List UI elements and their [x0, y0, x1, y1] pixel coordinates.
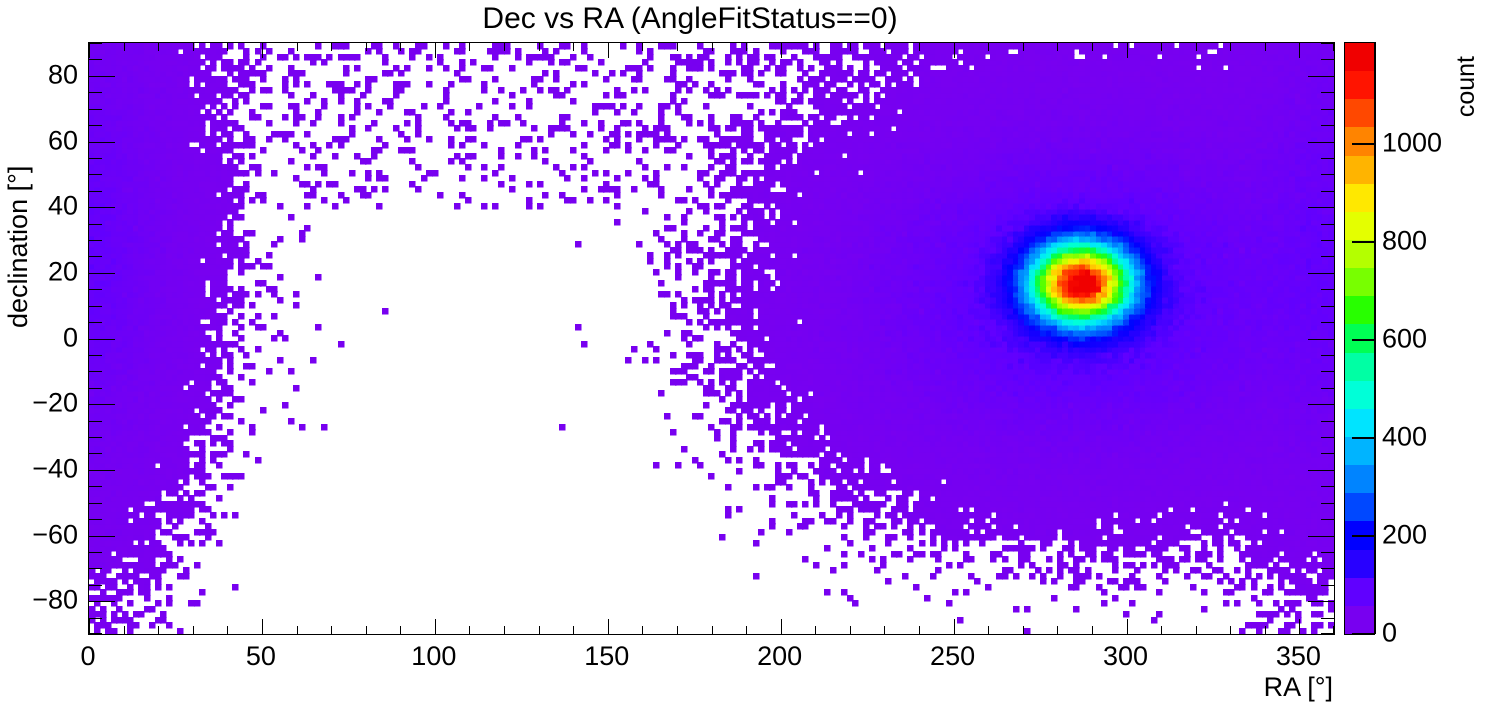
y-minor-tick: [89, 503, 102, 504]
y-major-tick-right: [1308, 536, 1334, 537]
y-major-tick: [89, 142, 115, 143]
x-minor-tick-top: [297, 43, 298, 51]
y-minor-tick-right: [1321, 453, 1334, 454]
y-minor-tick-right: [1321, 552, 1334, 553]
x-tick-label: 0: [80, 641, 95, 672]
x-minor-tick: [366, 626, 367, 634]
y-minor-tick-right: [1321, 437, 1334, 438]
y-minor-tick: [89, 322, 102, 323]
color-band: [1345, 70, 1374, 99]
x-major-tick: [954, 619, 955, 634]
x-minor-tick: [539, 626, 540, 634]
x-minor-tick-top: [988, 43, 989, 51]
x-minor-tick-top: [712, 43, 713, 51]
color-band: [1345, 352, 1374, 381]
x-major-tick: [781, 619, 782, 634]
y-minor-tick: [89, 568, 102, 569]
x-minor-tick: [573, 626, 574, 634]
x-minor-tick-top: [850, 43, 851, 51]
color-band: [1345, 464, 1374, 493]
y-minor-tick: [89, 59, 102, 60]
y-minor-tick-right: [1321, 174, 1334, 175]
y-major-tick-right: [1308, 404, 1334, 405]
x-minor-tick: [331, 626, 332, 634]
y-minor-tick: [89, 519, 102, 520]
x-major-tick-top: [781, 43, 782, 58]
y-major-tick-right: [1308, 76, 1334, 77]
y-minor-tick-right: [1321, 256, 1334, 257]
y-major-tick: [89, 404, 115, 405]
x-minor-tick: [746, 626, 747, 634]
y-minor-tick: [89, 125, 102, 126]
y-minor-tick: [89, 421, 102, 422]
color-scale-tick: [1352, 339, 1374, 341]
x-minor-tick-top: [1333, 43, 1334, 51]
x-major-tick: [435, 619, 436, 634]
x-tick-label: 350: [1276, 641, 1321, 672]
y-minor-tick: [89, 355, 102, 356]
x-minor-tick: [297, 626, 298, 634]
color-scale-axis: [1374, 42, 1376, 634]
x-minor-tick: [400, 626, 401, 634]
y-minor-tick: [89, 437, 102, 438]
color-band: [1345, 211, 1374, 240]
y-minor-tick-right: [1321, 585, 1334, 586]
y-minor-tick-right: [1321, 289, 1334, 290]
y-minor-tick: [89, 633, 102, 634]
y-tick-label: 80: [48, 59, 78, 90]
y-major-tick: [89, 273, 115, 274]
y-minor-tick: [89, 174, 102, 175]
color-scale-label: 600: [1382, 324, 1427, 355]
y-minor-tick-right: [1321, 191, 1334, 192]
color-scale-label: 1000: [1382, 128, 1442, 159]
y-minor-tick: [89, 289, 102, 290]
y-minor-tick: [89, 224, 102, 225]
x-minor-tick-top: [124, 43, 125, 51]
x-minor-tick: [815, 626, 816, 634]
y-minor-tick-right: [1321, 355, 1334, 356]
x-tick-label: 250: [930, 641, 975, 672]
x-tick-label: 200: [757, 641, 802, 672]
y-minor-tick-right: [1321, 43, 1334, 44]
x-major-tick-top: [435, 43, 436, 58]
y-minor-tick-right: [1321, 633, 1334, 634]
y-minor-tick-right: [1321, 519, 1334, 520]
y-minor-tick: [89, 453, 102, 454]
x-minor-tick: [1092, 626, 1093, 634]
color-band: [1345, 42, 1374, 71]
y-minor-tick: [89, 256, 102, 257]
y-minor-tick: [89, 191, 102, 192]
y-tick-label: 60: [48, 125, 78, 156]
x-minor-tick-top: [400, 43, 401, 51]
color-band: [1345, 99, 1374, 128]
color-band: [1345, 408, 1374, 437]
x-minor-tick: [1161, 626, 1162, 634]
x-minor-tick-top: [331, 43, 332, 51]
x-minor-tick-top: [227, 43, 228, 51]
y-minor-tick: [89, 618, 102, 619]
x-major-tick: [1299, 619, 1300, 634]
color-scale-tick: [1352, 437, 1374, 439]
x-minor-tick: [642, 626, 643, 634]
x-minor-tick-top: [193, 43, 194, 51]
x-minor-tick-top: [884, 43, 885, 51]
y-minor-tick: [89, 240, 102, 241]
x-minor-tick-top: [469, 43, 470, 51]
color-scale-label: 400: [1382, 422, 1427, 453]
color-scale-tick: [1352, 535, 1374, 537]
y-minor-tick: [89, 388, 102, 389]
x-tick-label: 100: [411, 641, 456, 672]
x-minor-tick: [1265, 626, 1266, 634]
y-minor-tick-right: [1321, 486, 1334, 487]
x-minor-tick: [884, 626, 885, 634]
color-scale-label: 200: [1382, 520, 1427, 551]
y-minor-tick-right: [1321, 158, 1334, 159]
y-tick-label: −20: [32, 388, 78, 419]
plot-canvas: Dec vs RA (AngleFitStatus==0) 0501001502…: [0, 0, 1496, 722]
y-minor-tick: [89, 92, 102, 93]
x-minor-tick: [712, 626, 713, 634]
color-band: [1345, 549, 1374, 578]
y-major-tick: [89, 76, 115, 77]
color-band: [1345, 239, 1374, 268]
color-scale-title: count: [1452, 56, 1481, 117]
plot-frame: [88, 42, 1335, 635]
y-minor-tick-right: [1321, 421, 1334, 422]
x-tick-label: 150: [584, 641, 629, 672]
x-minor-tick: [988, 626, 989, 634]
color-band: [1345, 436, 1374, 465]
y-minor-tick-right: [1321, 503, 1334, 504]
y-minor-tick-right: [1321, 322, 1334, 323]
x-minor-tick-top: [1057, 43, 1058, 51]
y-major-tick: [89, 339, 115, 340]
y-tick-label: 40: [48, 191, 78, 222]
color-band: [1345, 380, 1374, 409]
x-minor-tick: [227, 626, 228, 634]
x-major-tick-top: [262, 43, 263, 58]
color-band: [1345, 155, 1374, 184]
histogram-2d: [89, 43, 1334, 634]
x-major-tick-top: [608, 43, 609, 58]
x-minor-tick: [158, 626, 159, 634]
x-minor-tick-top: [1230, 43, 1231, 51]
color-scale-tick: [1352, 633, 1374, 635]
y-tick-label: −60: [32, 519, 78, 550]
y-minor-tick-right: [1321, 109, 1334, 110]
x-minor-tick-top: [746, 43, 747, 51]
x-minor-tick-top: [539, 43, 540, 51]
x-minor-tick-top: [366, 43, 367, 51]
color-band: [1345, 127, 1374, 156]
y-tick-label: 0: [63, 322, 78, 353]
x-minor-tick: [469, 626, 470, 634]
x-minor-tick-top: [1023, 43, 1024, 51]
color-band: [1345, 267, 1374, 296]
y-minor-tick: [89, 158, 102, 159]
y-major-tick: [89, 207, 115, 208]
y-major-tick-right: [1308, 207, 1334, 208]
color-band: [1345, 577, 1374, 606]
x-minor-tick-top: [504, 43, 505, 51]
color-band: [1345, 493, 1374, 522]
x-axis-title: RA [°]: [1264, 672, 1333, 703]
x-minor-tick-top: [919, 43, 920, 51]
x-minor-tick: [850, 626, 851, 634]
y-minor-tick: [89, 585, 102, 586]
y-axis-title: declination [°]: [3, 166, 34, 328]
color-scale-label: 0: [1382, 618, 1397, 649]
x-major-tick-top: [89, 43, 90, 58]
y-minor-tick-right: [1321, 618, 1334, 619]
y-major-tick-right: [1308, 142, 1334, 143]
y-minor-tick-right: [1321, 92, 1334, 93]
x-major-tick-top: [954, 43, 955, 58]
y-major-tick-right: [1308, 273, 1334, 274]
color-band: [1345, 605, 1374, 634]
y-minor-tick-right: [1321, 224, 1334, 225]
x-tick-label: 50: [246, 641, 276, 672]
y-minor-tick: [89, 552, 102, 553]
x-minor-tick: [677, 626, 678, 634]
x-minor-tick-top: [642, 43, 643, 51]
x-minor-tick-top: [1265, 43, 1266, 51]
x-minor-tick: [1230, 626, 1231, 634]
y-tick-label: −40: [32, 453, 78, 484]
color-scale-tick: [1352, 143, 1374, 145]
x-major-tick: [608, 619, 609, 634]
y-tick-label: 20: [48, 256, 78, 287]
x-minor-tick-top: [573, 43, 574, 51]
x-minor-tick-top: [815, 43, 816, 51]
y-minor-tick-right: [1321, 125, 1334, 126]
y-major-tick: [89, 536, 115, 537]
x-minor-tick: [919, 626, 920, 634]
x-minor-tick: [1023, 626, 1024, 634]
color-band: [1345, 296, 1374, 325]
y-tick-label: −80: [32, 585, 78, 616]
x-minor-tick-top: [1092, 43, 1093, 51]
y-major-tick-right: [1308, 470, 1334, 471]
y-minor-tick-right: [1321, 240, 1334, 241]
y-minor-tick-right: [1321, 306, 1334, 307]
y-minor-tick-right: [1321, 388, 1334, 389]
x-minor-tick-top: [158, 43, 159, 51]
y-major-tick-right: [1308, 601, 1334, 602]
y-minor-tick: [89, 306, 102, 307]
x-major-tick: [89, 619, 90, 634]
color-band: [1345, 183, 1374, 212]
y-minor-tick: [89, 43, 102, 44]
x-tick-label: 300: [1103, 641, 1148, 672]
y-minor-tick-right: [1321, 371, 1334, 372]
y-minor-tick: [89, 371, 102, 372]
x-major-tick-top: [1299, 43, 1300, 58]
y-minor-tick-right: [1321, 568, 1334, 569]
x-major-tick: [262, 619, 263, 634]
x-minor-tick: [504, 626, 505, 634]
page-title: Dec vs RA (AngleFitStatus==0): [0, 2, 1380, 36]
y-major-tick: [89, 470, 115, 471]
color-scale-tick: [1352, 241, 1374, 243]
x-minor-tick: [1057, 626, 1058, 634]
x-minor-tick: [124, 626, 125, 634]
x-minor-tick: [1196, 626, 1197, 634]
y-minor-tick: [89, 486, 102, 487]
x-minor-tick-top: [677, 43, 678, 51]
x-minor-tick-top: [1161, 43, 1162, 51]
y-major-tick: [89, 601, 115, 602]
y-minor-tick: [89, 109, 102, 110]
color-scale-label: 800: [1382, 226, 1427, 257]
y-major-tick-right: [1308, 339, 1334, 340]
x-major-tick: [1127, 619, 1128, 634]
x-major-tick-top: [1127, 43, 1128, 58]
x-minor-tick-top: [1196, 43, 1197, 51]
x-minor-tick: [193, 626, 194, 634]
y-minor-tick-right: [1321, 59, 1334, 60]
